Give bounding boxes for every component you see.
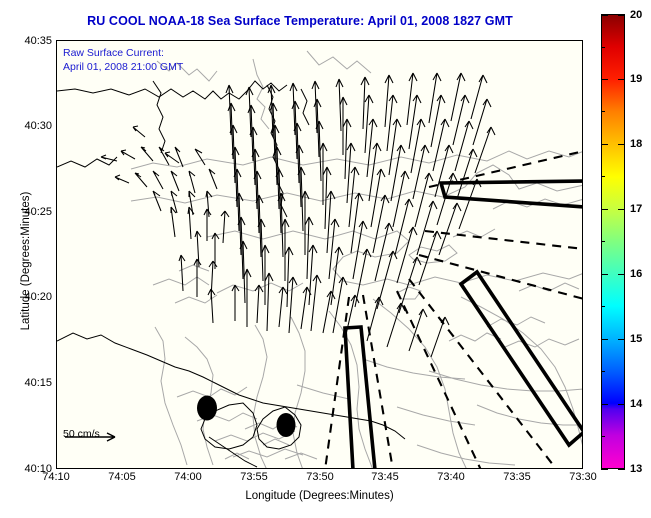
xtick-3: 73:55 — [240, 471, 268, 483]
cbtick-18: 18 — [630, 138, 642, 150]
surface-current-vectors — [101, 73, 495, 357]
x-axis-label: Longitude (Degrees:Minutes) — [56, 490, 583, 502]
coastline — [57, 81, 405, 467]
ytick-1: 40:15 — [24, 377, 52, 389]
ytick-5: 40:35 — [24, 35, 52, 47]
raw-surface-current-annotation: Raw Surface Current: April 01, 2008 21:0… — [63, 46, 183, 74]
ytick-4: 40:30 — [24, 120, 52, 132]
figure-title: RU COOL NOAA-18 Sea Surface Temperature:… — [0, 14, 600, 28]
xtick-5: 73:45 — [371, 471, 399, 483]
scale-legend: 50 cm/s — [63, 428, 100, 440]
cbtick-13: 13 — [630, 463, 642, 475]
annotation-line-2: April 01, 2008 21:00 GMT — [63, 60, 183, 74]
y-axis-label: Latitude (Degrees:Minutes) — [20, 151, 32, 371]
xtick-8: 73:30 — [569, 471, 597, 483]
cbtick-15: 15 — [630, 333, 642, 345]
sst-map-figure: RU COOL NOAA-18 Sea Surface Temperature:… — [0, 0, 651, 518]
station-marker — [277, 413, 296, 437]
cbtick-17: 17 — [630, 203, 642, 215]
cbtick-16: 16 — [630, 268, 642, 280]
map-canvas — [57, 41, 583, 469]
cbtick-14: 14 — [630, 398, 642, 410]
annotation-line-1: Raw Surface Current: — [63, 46, 183, 60]
plot-axes: Raw Surface Current: April 01, 2008 21:0… — [56, 40, 583, 469]
cbtick-19: 19 — [630, 73, 642, 85]
xtick-6: 73:40 — [437, 471, 465, 483]
right-arrow-icon — [63, 431, 123, 442]
station-marker — [197, 396, 217, 421]
xtick-7: 73:35 — [503, 471, 531, 483]
station-markers — [197, 396, 296, 438]
xtick-4: 73:50 — [306, 471, 334, 483]
ytick-0: 40:10 — [24, 463, 52, 475]
survey-track-polygons — [345, 181, 583, 469]
xtick-1: 74:05 — [108, 471, 136, 483]
cbtick-20: 20 — [630, 9, 642, 21]
xtick-2: 74:00 — [174, 471, 202, 483]
